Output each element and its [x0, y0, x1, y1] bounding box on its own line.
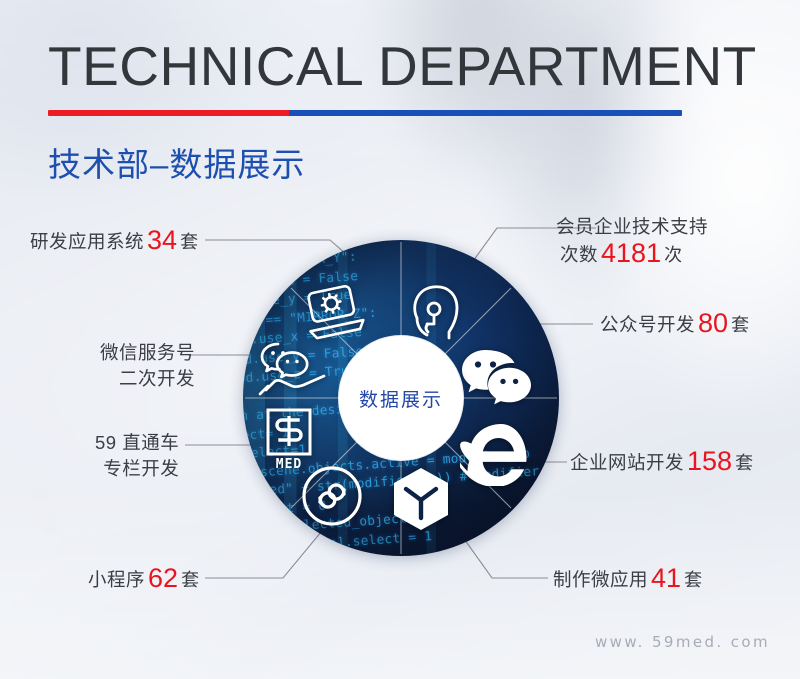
internet-explorer-icon — [460, 418, 536, 486]
label-official-account-dev: 公众号开发80套 — [600, 310, 750, 338]
label-micro-app-text: 制作微应用 — [553, 569, 648, 590]
label-micro-app: 制作微应用41套 — [553, 565, 703, 593]
label-member-tech-support-unit: 次 — [664, 245, 683, 265]
label-direct-train-column-text2: 专栏开发 — [95, 456, 179, 482]
laptop-gear-icon — [301, 282, 367, 342]
divider-red-segment — [48, 110, 289, 116]
label-member-tech-support: 会员企业技术支持 次数4181次 — [556, 214, 708, 268]
label-mini-program-text: 小程序 — [88, 569, 145, 590]
label-member-tech-support-prefix: 次数 — [560, 244, 598, 265]
label-direct-train-column-text: 59 直通车 — [95, 432, 179, 453]
label-enterprise-website-dev: 企业网站开发158套 — [570, 448, 754, 476]
label-micro-app-number: 41 — [648, 563, 684, 593]
label-official-account-dev-text: 公众号开发 — [600, 314, 695, 335]
label-enterprise-website-dev-number: 158 — [684, 446, 735, 476]
page-subtitle-chinese: 技术部–数据展示 — [48, 138, 708, 186]
label-mini-program: 小程序62套 — [88, 565, 200, 593]
mini-program-icon — [300, 464, 364, 528]
label-wechat-service-account: 微信服务号 二次开发 — [100, 340, 195, 392]
header: TECHNICAL DEPARTMENT 技术部–数据展示 — [48, 38, 708, 186]
label-direct-train-column: 59 直通车 专栏开发 — [95, 430, 179, 482]
label-wechat-service-account-text2: 二次开发 — [100, 366, 195, 392]
label-rnd-systems-number: 34 — [144, 225, 180, 255]
label-official-account-dev-number: 80 — [695, 308, 731, 338]
title-divider — [48, 110, 682, 116]
label-member-tech-support-text: 会员企业技术支持 — [556, 216, 708, 237]
wechat-bubbles-icon — [461, 348, 531, 410]
label-rnd-systems-unit: 套 — [180, 232, 199, 252]
headset-icon — [407, 280, 463, 342]
hub-label: 数据展示 — [359, 385, 443, 412]
donut-center-hub: 数据展示 — [339, 336, 463, 460]
label-micro-app-unit: 套 — [684, 570, 703, 590]
med59-logo-icon: MED — [260, 408, 318, 472]
label-official-account-dev-unit: 套 — [731, 315, 750, 335]
svg-text:MED: MED — [276, 457, 302, 472]
label-rnd-systems: 研发应用系统34套 — [30, 227, 199, 255]
divider-blue-segment — [289, 110, 682, 116]
label-mini-program-number: 62 — [145, 563, 181, 593]
cube-icon — [390, 466, 452, 532]
label-rnd-systems-text: 研发应用系统 — [30, 231, 144, 252]
label-member-tech-support-number: 4181 — [598, 238, 664, 268]
label-enterprise-website-dev-unit: 套 — [735, 453, 754, 473]
page-title-english: TECHNICAL DEPARTMENT — [48, 38, 708, 96]
label-wechat-service-account-text: 微信服务号 — [100, 342, 195, 363]
label-mini-program-unit: 套 — [181, 570, 200, 590]
label-member-tech-support-line2: 次数4181次 — [556, 240, 708, 268]
site-watermark: www. 59med. com — [595, 633, 770, 651]
label-enterprise-website-dev-text: 企业网站开发 — [570, 452, 684, 473]
data-donut-chart: y = False use_z = False on == "MIRROR_Y"… — [243, 240, 559, 556]
wechat-hand-icon — [258, 340, 330, 398]
